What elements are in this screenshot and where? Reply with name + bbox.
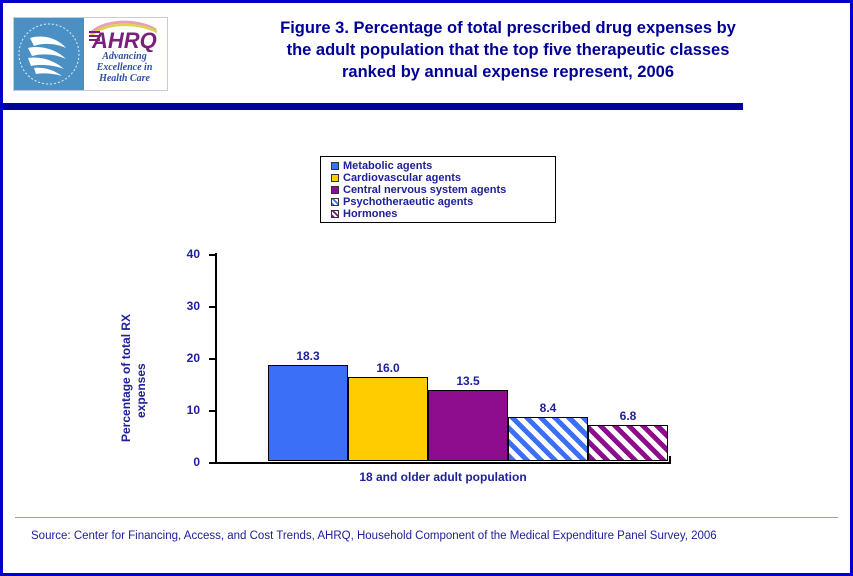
bar-psychotherapeutic[interactable]: 8.4 [508, 417, 588, 461]
legend-label-cns: Central nervous system agents [343, 184, 506, 196]
y-tick-10: 10 [209, 410, 215, 412]
figure-title-line-3: ranked by annual expense represent, 2006 [178, 61, 838, 83]
source-divider [15, 517, 838, 518]
figure-title-line-1: Figure 3. Percentage of total prescribed… [178, 17, 838, 39]
agency-logo: AHRQ Advancing Excellence in Health Care [13, 17, 168, 91]
psychotherapeutic-swatch [331, 198, 339, 206]
x-axis-line [215, 462, 671, 464]
bar-metabolic[interactable]: 18.3 [268, 365, 348, 461]
ahrq-tagline-line-2: Excellence in [84, 62, 165, 73]
y-tick-label-40: 40 [187, 247, 200, 261]
bar-chart: Metabolic agents Cardiovascular agents C… [3, 113, 850, 513]
legend-item-psychotherapeutic: Psychotheraeutic agents [331, 196, 555, 208]
figure-header: AHRQ Advancing Excellence in Health Care… [3, 3, 850, 102]
y-tick-label-0: 0 [193, 455, 200, 469]
x-axis-end-tick [669, 456, 671, 464]
hormones-swatch [331, 210, 339, 218]
y-axis-line [215, 253, 217, 464]
bar-value-cardiovascular: 16.0 [376, 361, 399, 375]
ahrq-tagline-line-3: Health Care [84, 73, 165, 84]
figure-title-line-2: the adult population that the top five t… [178, 39, 838, 61]
y-tick-label-10: 10 [187, 403, 200, 417]
y-tick-20: 20 [209, 358, 215, 360]
header-divider [3, 103, 743, 110]
ahrq-letters-icon: AHRQ [84, 18, 167, 52]
figure-title: Figure 3. Percentage of total prescribed… [178, 17, 838, 83]
chart-legend: Metabolic agents Cardiovascular agents C… [320, 156, 556, 223]
cns-swatch [331, 186, 339, 194]
y-tick-40: 40 [209, 254, 215, 256]
y-axis-title: Percentage of total RX expenses [115, 258, 135, 458]
y-tick-label-20: 20 [187, 351, 200, 365]
metabolic-swatch [331, 162, 339, 170]
ahrq-wordmark: AHRQ Advancing Excellence in Health Care [84, 18, 167, 90]
legend-label-psychotherapeutic: Psychotheraeutic agents [343, 196, 473, 208]
legend-item-cns: Central nervous system agents [331, 184, 555, 196]
y-axis-title-line-1: Percentage of total RX [119, 314, 133, 442]
y-tick-30: 30 [209, 306, 215, 308]
bar-value-psychotherapeutic: 8.4 [540, 401, 557, 415]
bar-hormones[interactable]: 6.8 [588, 425, 668, 461]
legend-item-hormones: Hormones [331, 208, 555, 220]
ahrq-tagline-line-1: Advancing [84, 51, 165, 62]
bar-value-hormones: 6.8 [620, 409, 637, 423]
x-axis-title: 18 and older adult population [215, 470, 671, 484]
hhs-seal-icon [14, 18, 84, 90]
cardiovascular-swatch [331, 174, 339, 182]
bar-value-metabolic: 18.3 [296, 349, 319, 363]
figure-page: AHRQ Advancing Excellence in Health Care… [0, 0, 853, 576]
svg-text:AHRQ: AHRQ [91, 28, 157, 52]
y-tick-0: 0 [209, 462, 215, 464]
hhs-eagle-graphic [14, 18, 84, 90]
source-note: Source: Center for Financing, Access, an… [31, 530, 717, 542]
legend-label-hormones: Hormones [343, 208, 397, 220]
bar-cns[interactable]: 13.5 [428, 390, 508, 461]
y-axis-title-line-2: expenses [134, 363, 148, 418]
y-tick-label-30: 30 [187, 299, 200, 313]
plot-area: 0 10 20 30 40 18.3 16.0 13.5 [215, 253, 671, 463]
legend-label-metabolic: Metabolic agents [343, 160, 432, 172]
legend-label-cardiovascular: Cardiovascular agents [343, 172, 461, 184]
legend-item-metabolic: Metabolic agents [331, 160, 555, 172]
bar-cardiovascular[interactable]: 16.0 [348, 377, 428, 461]
legend-item-cardiovascular: Cardiovascular agents [331, 172, 555, 184]
bar-value-cns: 13.5 [456, 374, 479, 388]
